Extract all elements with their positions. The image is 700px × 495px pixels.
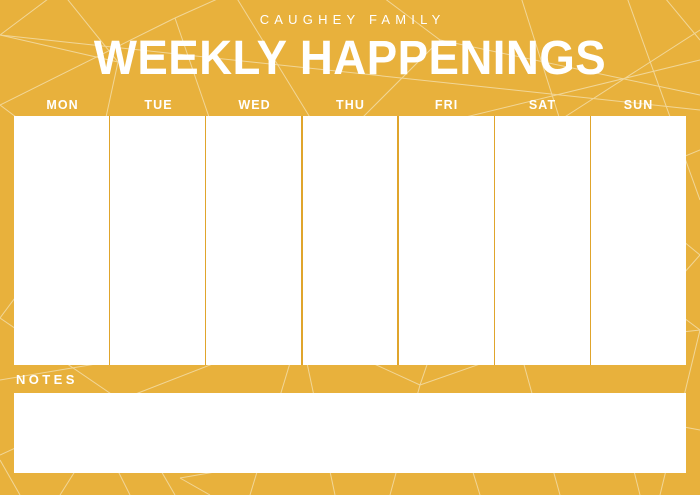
day-header-wed: WED <box>206 96 302 114</box>
day-column-sat[interactable] <box>495 116 590 365</box>
day-column-sun[interactable] <box>591 116 686 365</box>
notes-box[interactable] <box>14 393 686 473</box>
day-header-sat: SAT <box>494 96 590 114</box>
day-header-thu: THU <box>302 96 398 114</box>
day-column-wed[interactable] <box>206 116 301 365</box>
notes-label: NOTES <box>16 371 78 389</box>
weekly-planner-page: CAUGHEY FAMILY WEEKLY HAPPENINGS MON TUE… <box>0 0 700 495</box>
day-column-thu[interactable] <box>303 116 398 365</box>
day-header-row: MON TUE WED THU FRI SAT SUN <box>14 96 686 114</box>
day-header-mon: MON <box>14 96 110 114</box>
week-columns-grid <box>14 116 686 365</box>
planner-header: CAUGHEY FAMILY WEEKLY HAPPENINGS <box>0 12 700 85</box>
day-header-fri: FRI <box>398 96 494 114</box>
day-column-tue[interactable] <box>110 116 205 365</box>
day-header-sun: SUN <box>590 96 686 114</box>
family-subtitle: CAUGHEY FAMILY <box>0 12 700 28</box>
day-header-tue: TUE <box>110 96 206 114</box>
day-column-fri[interactable] <box>399 116 494 365</box>
day-column-mon[interactable] <box>14 116 109 365</box>
page-title: WEEKLY HAPPENINGS <box>18 33 683 85</box>
